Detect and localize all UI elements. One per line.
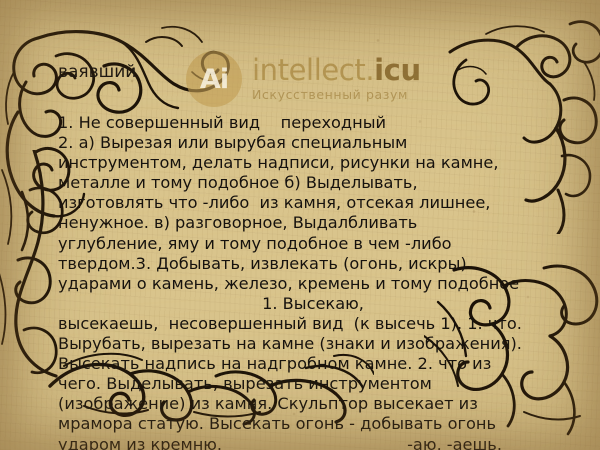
definition-line: Вырубать, вырезать на камне (знаки и изо… <box>58 334 568 354</box>
watermark-text-group: intellect.icu Искусственный разум <box>252 56 421 103</box>
definition-line: твердом.3. Добывать, извлекать (огонь, и… <box>58 254 568 274</box>
conjugation-suffix: -аю, -аешь. <box>407 435 568 450</box>
dictionary-headword: ваявший <box>58 62 136 82</box>
definition-line: чего. Выделывать, вырезать инструментом <box>58 374 568 394</box>
definition-line: ненужное. в) разговорное, Выдалбливать <box>58 213 568 233</box>
watermark-title-accent: icu <box>374 53 421 87</box>
dictionary-definition-body: 1. Не совершенный вид переходный 2. а) В… <box>58 113 568 450</box>
watermark-ai-logo: Ai <box>186 51 242 107</box>
definition-line: металле и тому подобное б) Выделывать, <box>58 173 568 193</box>
definition-line: изготовлять что -либо из камня, отсекая … <box>58 193 568 213</box>
definition-line: инструментом, делать надписи, рисунки на… <box>58 153 568 173</box>
definition-line-text: ударом из кремню. <box>58 435 222 450</box>
watermark-subtitle: Искусственный разум <box>252 87 421 102</box>
definition-line: мрамора статую. Высекать огонь - добыват… <box>58 414 568 434</box>
definition-line: углубление, яму и тому подобное в чем -л… <box>58 234 568 254</box>
parchment-page: Ai intellect.icu Искусственный разум вая… <box>0 0 600 450</box>
definition-line: Высекать надпись на надгробном камне. 2.… <box>58 354 568 374</box>
watermark-title: intellect.icu <box>252 56 421 86</box>
watermark: Ai intellect.icu Искусственный разум <box>186 44 476 114</box>
definition-line: ударами о камень, железо, кремень и тому… <box>58 274 568 294</box>
watermark-title-main: intellect. <box>252 53 374 87</box>
definition-line: высекаешь, несовершенный вид (к высечь 1… <box>58 314 568 334</box>
definition-line: 1. Не совершенный вид переходный <box>58 113 568 133</box>
definition-line: 2. а) Вырезая или вырубая специальным <box>58 133 568 153</box>
definition-line-centered: 1. Высекаю, <box>58 294 568 314</box>
definition-line: (изображение) из камня. Скульптор высека… <box>58 394 568 414</box>
definition-line-with-suffix: ударом из кремню.-аю, -аешь. <box>58 435 568 450</box>
watermark-badge-text: Ai <box>200 66 228 93</box>
